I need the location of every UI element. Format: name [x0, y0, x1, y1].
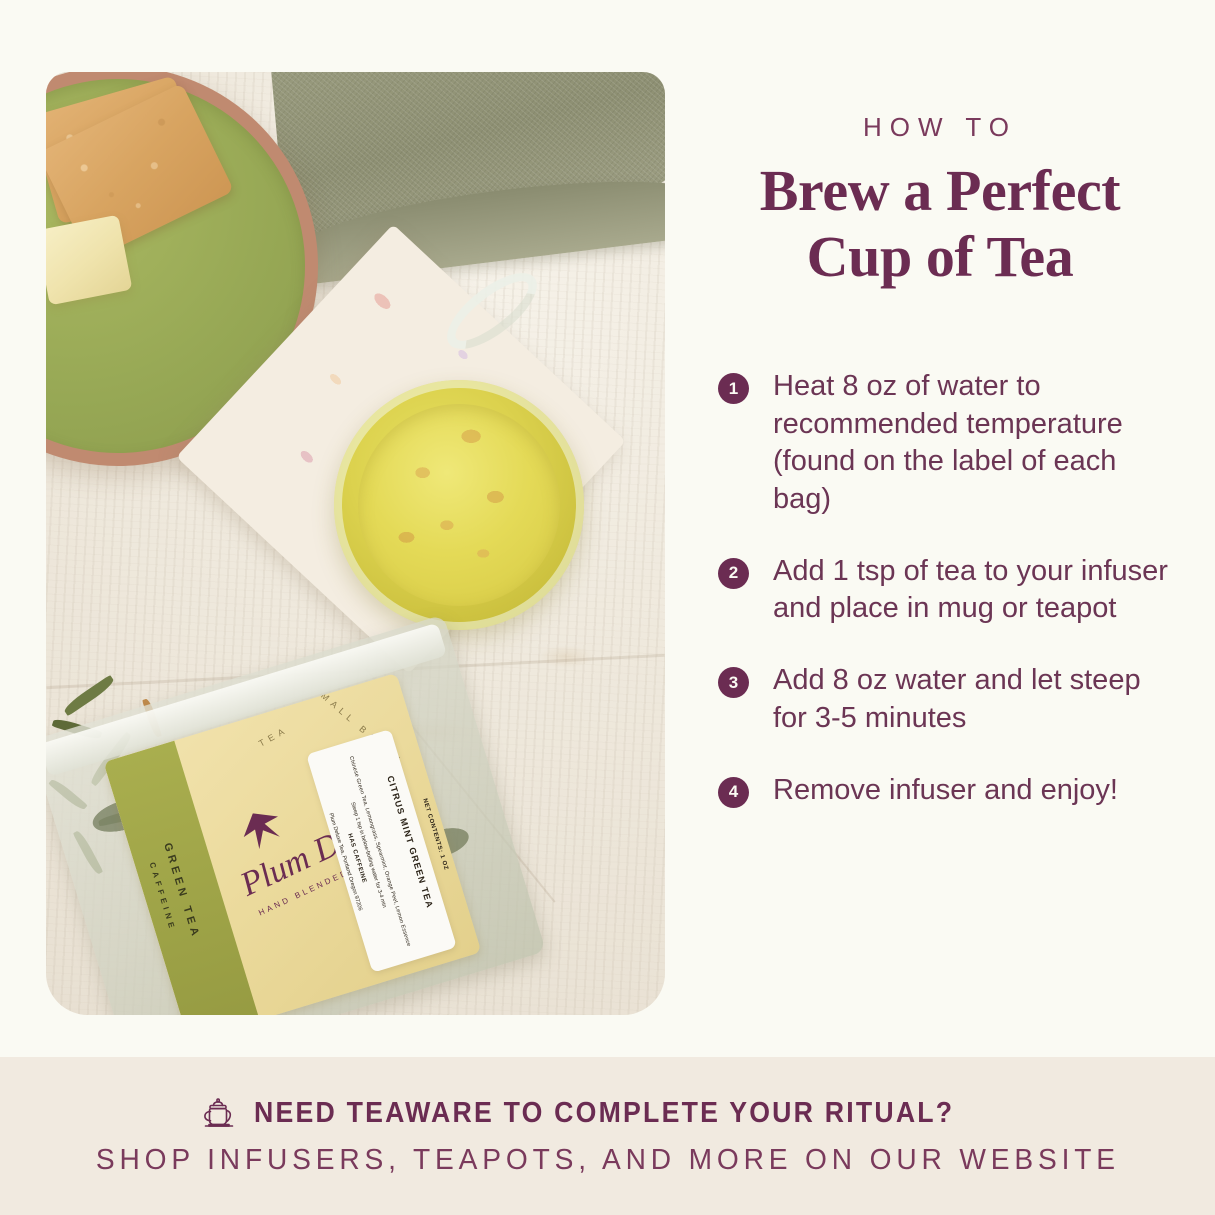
steps-list: 1 Heat 8 oz of water to recommended temp… [718, 368, 1188, 809]
step-number-badge: 3 [718, 667, 749, 698]
step-text: Heat 8 oz of water to recommended temper… [773, 368, 1173, 519]
step-text: Add 1 tsp of tea to your infuser and pla… [773, 553, 1173, 628]
tea-flatlay-photo: GREEN TEA CAFFEINE TEA SMALL BATCH Plum … [46, 72, 665, 1015]
photo-inner: GREEN TEA CAFFEINE TEA SMALL BATCH Plum … [46, 72, 665, 1015]
step-number-badge: 4 [718, 777, 749, 808]
step-text: Add 8 oz water and let steep for 3-5 min… [773, 662, 1173, 737]
eyebrow-label: HOW TO [700, 112, 1180, 143]
content-area: GREEN TEA CAFFEINE TEA SMALL BATCH Plum … [0, 0, 1215, 1057]
step-text: Remove infuser and enjoy! [773, 772, 1118, 810]
step-number-badge: 2 [718, 558, 749, 589]
footer-line-1-text: NEED TEAWARE TO COMPLETE YOUR RITUAL? [254, 1097, 954, 1130]
footer-banner: NEED TEAWARE TO COMPLETE YOUR RITUAL? SH… [0, 1057, 1215, 1215]
list-item: 4 Remove infuser and enjoy! [718, 772, 1188, 810]
list-item: 2 Add 1 tsp of tea to your infuser and p… [718, 553, 1188, 628]
footer-primary-line: NEED TEAWARE TO COMPLETE YOUR RITUAL? [200, 1096, 1015, 1132]
list-item: 1 Heat 8 oz of water to recommended temp… [718, 368, 1188, 519]
headline-line-1: Brew a Perfect [700, 158, 1180, 224]
tea-leaf [62, 675, 116, 717]
infographic-page: GREEN TEA CAFFEINE TEA SMALL BATCH Plum … [0, 0, 1215, 1215]
footer-secondary-line: SHOP INFUSERS, TEAPOTS, AND MORE ON OUR … [95, 1144, 1119, 1177]
cheese-cube [46, 215, 132, 306]
brewed-tea [358, 404, 560, 606]
list-item: 3 Add 8 oz water and let steep for 3-5 m… [718, 662, 1188, 737]
step-number-badge: 1 [718, 373, 749, 404]
pouch-arc-line1: TEA [257, 724, 290, 749]
headline-line-2: Cup of Tea [700, 224, 1180, 290]
teapot-icon [200, 1096, 238, 1132]
glass-mug [334, 380, 584, 630]
page-title: Brew a Perfect Cup of Tea [700, 158, 1180, 289]
instructions-column: HOW TO Brew a Perfect Cup of Tea 1 Heat … [700, 0, 1200, 1057]
